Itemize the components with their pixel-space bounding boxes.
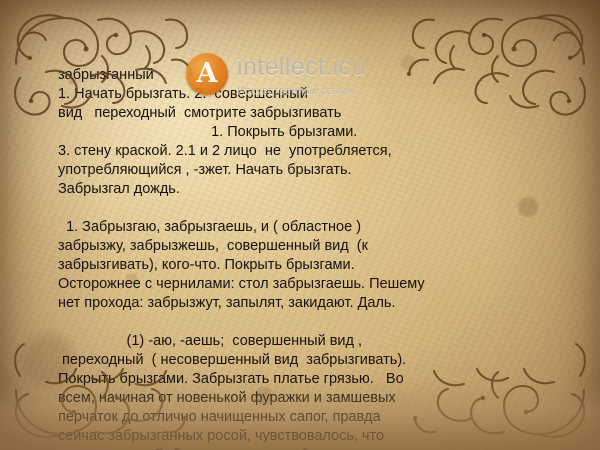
paragraph-spacer (58, 199, 548, 218)
article-paragraph-3: (1) -аю, -аешь; совершенный вид , перехо… (58, 332, 548, 450)
document-page: A intellect.icu Искусственный разум забр… (0, 0, 600, 450)
paragraph-spacer (58, 313, 548, 332)
article-headword: забрызганный (58, 66, 548, 85)
article-body: забрызганный 1. Начать брызгать. 2. сове… (58, 66, 548, 450)
article-paragraph-2: 1. Забрызгаю, забрызгаешь, и ( областное… (58, 218, 548, 313)
article-paragraph-1: 1. Начать брызгать. 2. совершенный вид п… (58, 85, 548, 199)
